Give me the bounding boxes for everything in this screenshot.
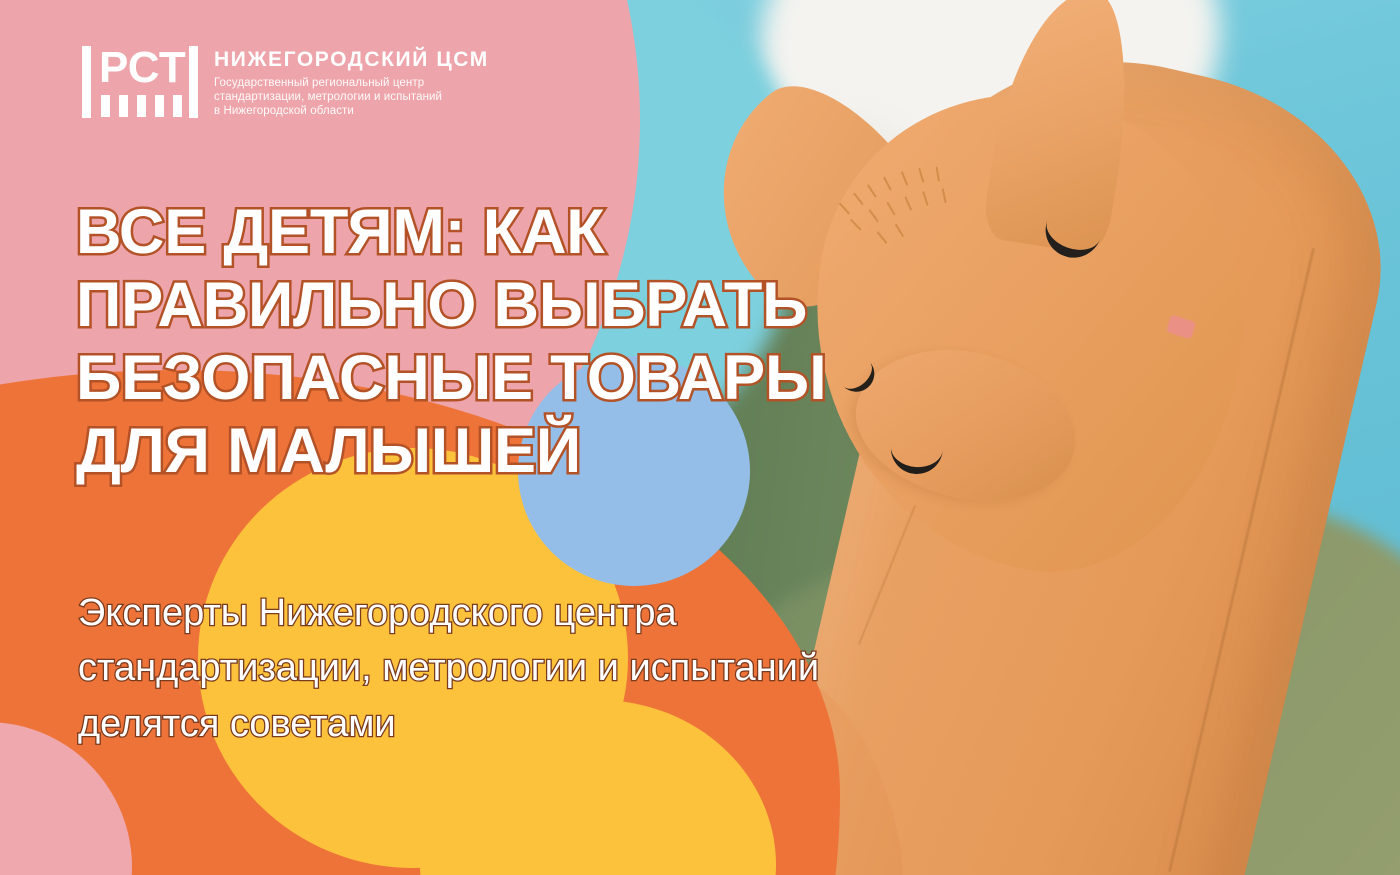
headline-line-4: ДЛЯ МАЛЫШЕЙ [76,415,1006,488]
subtitle-line-3: делятся советами [78,697,1038,752]
logo-title: НИЖЕГОРОДСКИЙ ЦСМ [214,48,489,72]
logo-subtitle: Государственный региональный центр станд… [214,76,489,119]
headline: ВСЕ ДЕТЯМ: КАК ПРАВИЛЬНО ВЫБРАТЬ БЕЗОПАС… [76,196,1006,488]
emblem-right-bar [189,46,198,118]
subtitle-line-1: Эксперты Нижегородского центра [78,586,1038,641]
subtitle-line-2: стандартизации, метрологии и испытаний [78,641,1038,696]
subtitle: Эксперты Нижегородского центра стандарти… [78,586,1038,752]
headline-line-3: БЕЗОПАСНЫЕ ТОВАРЫ [76,342,1006,415]
headline-line-2: ПРАВИЛЬНО ВЫБРАТЬ [76,269,1006,342]
emblem-left-bar [82,46,91,118]
poster-canvas: РСТ НИЖЕГОРОДСКИЙ ЦСМ Государственный ре… [0,0,1400,875]
emblem-letters: РСТ [99,44,186,92]
emblem-tick-marks [101,95,182,117]
logo-subtitle-line-2: стандартизации, метрологии и испытаний [214,90,489,104]
logo-subtitle-line-3: в Нижегородской области [214,104,489,118]
rst-emblem-icon: РСТ [82,46,198,118]
headline-line-1: ВСЕ ДЕТЯМ: КАК [76,196,1006,269]
organization-logo[interactable]: РСТ НИЖЕГОРОДСКИЙ ЦСМ Государственный ре… [82,46,489,119]
logo-text-block: НИЖЕГОРОДСКИЙ ЦСМ Государственный регион… [214,46,489,119]
logo-subtitle-line-1: Государственный региональный центр [214,76,489,90]
